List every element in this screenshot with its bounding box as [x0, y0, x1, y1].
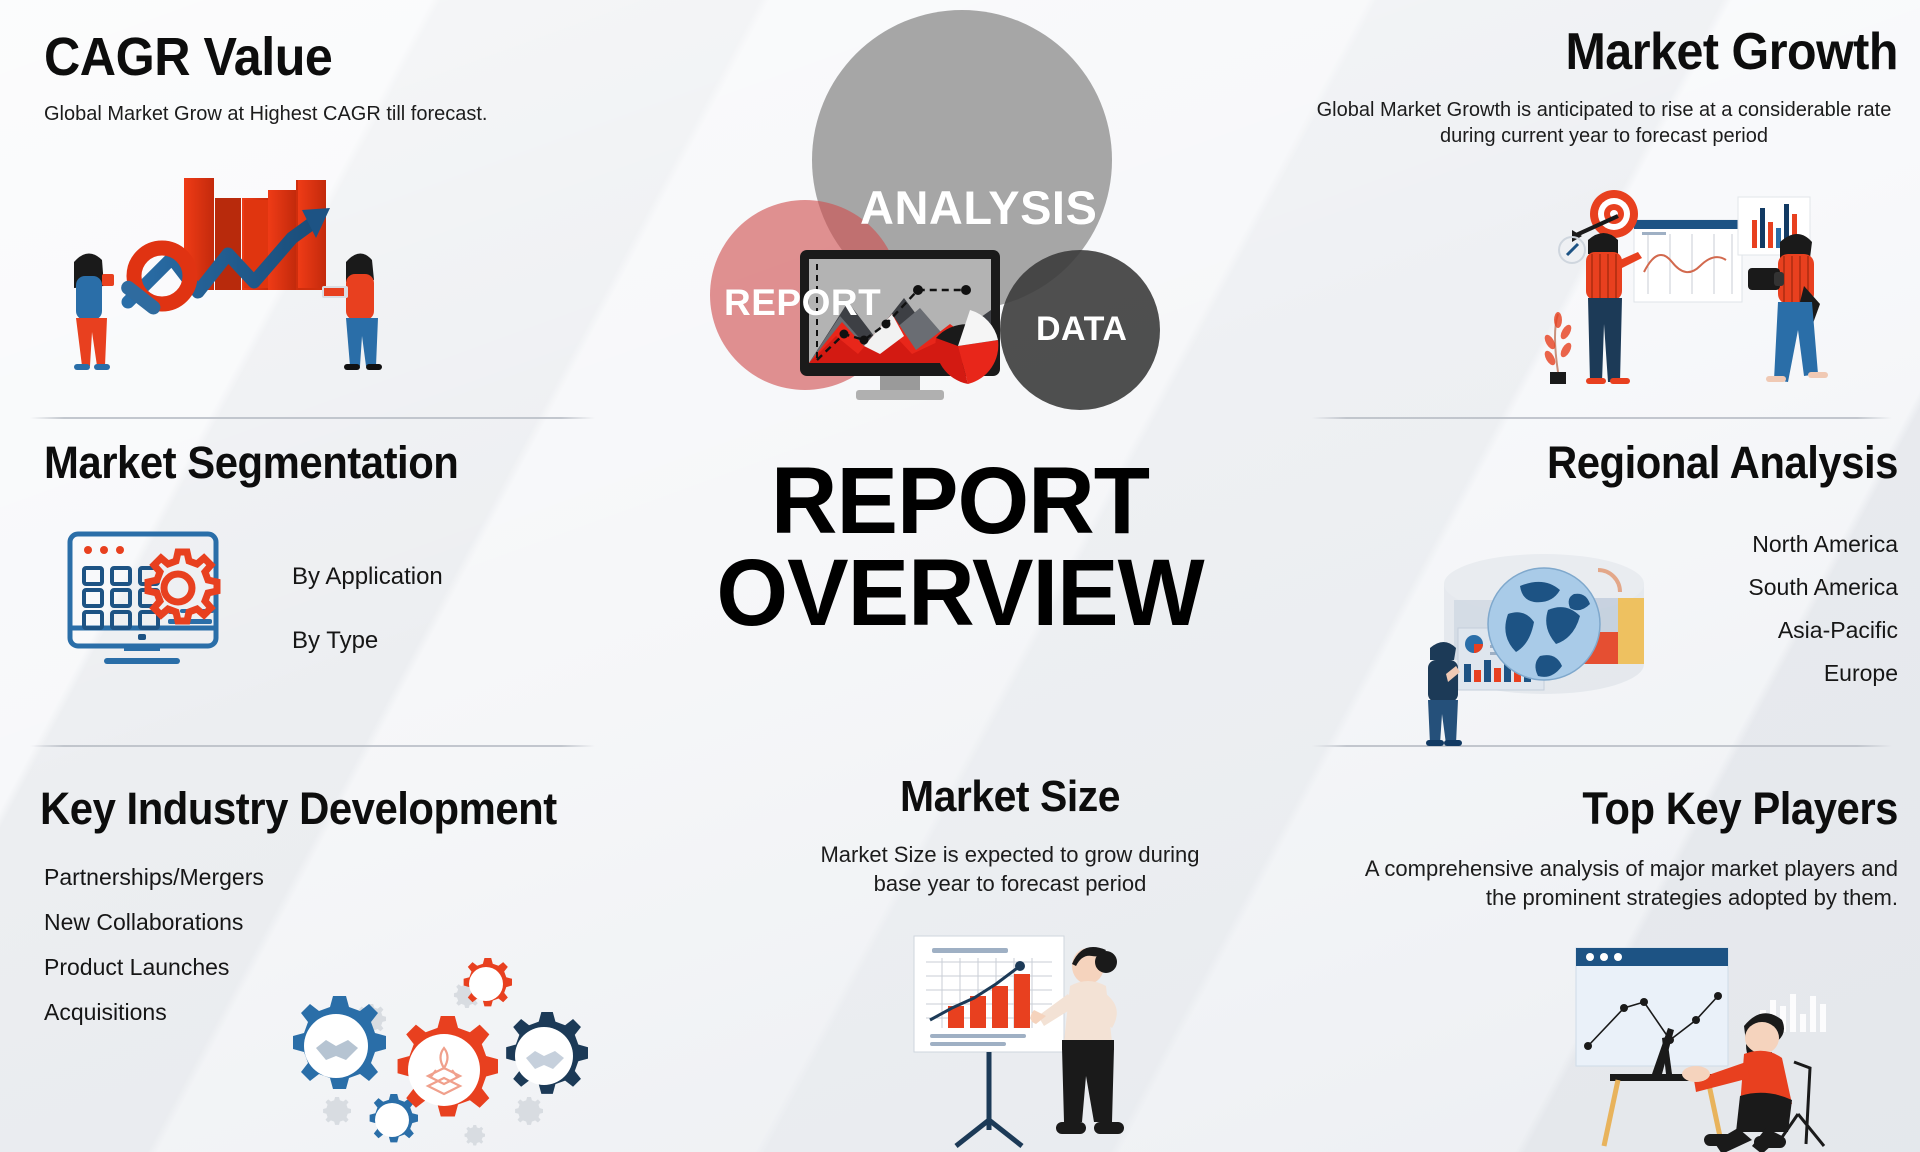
report-circle-label: REPORT — [724, 282, 881, 324]
key-industry-development-items: Partnerships/Mergers New Collaborations … — [44, 866, 264, 1024]
segmentation-item-0: By Application — [292, 565, 443, 589]
market-segmentation-items: By Application By Type — [292, 565, 443, 653]
report-overview-line1: REPORT — [669, 455, 1251, 547]
key-industry-development-illustration — [252, 918, 622, 1152]
region-item-1: South America — [1600, 576, 1898, 599]
market-growth-subtitle: Global Market Growth is anticipated to r… — [1310, 97, 1898, 150]
kid-item-2: Product Launches — [44, 956, 264, 979]
kid-item-1: New Collaborations — [44, 911, 264, 934]
market-segmentation-title: Market Segmentation — [44, 440, 565, 486]
market-size-title: Market Size — [759, 775, 1261, 820]
top-key-players-subtitle-line1: A comprehensive analysis of major market… — [1300, 854, 1898, 883]
top-key-players-illustration — [1548, 934, 1888, 1152]
cagr-value-subtitle: Global Market Grow at Highest CAGR till … — [44, 101, 604, 127]
analysis-circle-label: ANALYSIS — [860, 180, 1097, 235]
monitor-chart-icon — [800, 250, 1028, 410]
region-item-2: Asia-Pacific — [1600, 619, 1898, 642]
regional-analysis-title: Regional Analysis — [1370, 440, 1898, 486]
divider-left-bottom — [30, 745, 595, 747]
top-key-players-subtitle-line2: the prominent strategies adopted by them… — [1300, 883, 1898, 912]
data-circle-label: DATA — [1036, 310, 1127, 349]
regional-analysis-items: North America South America Asia-Pacific… — [1600, 533, 1898, 685]
market-growth-illustration — [1512, 182, 1892, 400]
market-size-illustration — [890, 924, 1160, 1152]
center-logo: ANALYSIS REPORT DATA — [700, 10, 1120, 370]
market-growth-title: Market Growth — [1351, 26, 1898, 79]
section-cagr-value: CAGR Value Global Market Grow at Highest… — [44, 30, 604, 127]
top-key-players-title: Top Key Players — [1342, 786, 1898, 832]
region-item-3: Europe — [1600, 662, 1898, 685]
report-overview-line2: OVERVIEW — [669, 547, 1251, 639]
segmentation-item-1: By Type — [292, 629, 443, 653]
region-item-0: North America — [1600, 533, 1898, 556]
market-size-subtitle-line2: base year to forecast period — [740, 869, 1280, 898]
key-industry-development-title: Key Industry Development — [40, 786, 635, 832]
market-size-subtitle-line1: Market Size is expected to grow during — [740, 840, 1280, 869]
divider-right-top — [1312, 417, 1892, 419]
section-key-industry-development: Key Industry Development — [40, 786, 680, 832]
kid-item-0: Partnerships/Mergers — [44, 866, 264, 889]
divider-left-top — [30, 417, 595, 419]
section-market-size: Market Size Market Size is expected to g… — [740, 775, 1280, 898]
section-regional-analysis: Regional Analysis — [1330, 440, 1898, 486]
section-top-key-players: Top Key Players A comprehensive analysis… — [1300, 786, 1898, 912]
cagr-value-illustration — [40, 150, 420, 390]
cagr-value-title: CAGR Value — [44, 30, 565, 85]
market-segmentation-illustration — [62, 528, 262, 688]
kid-item-3: Acquisitions — [44, 1001, 264, 1024]
section-market-segmentation: Market Segmentation — [44, 440, 604, 486]
section-market-growth: Market Growth Global Market Growth is an… — [1310, 26, 1898, 150]
page-title: REPORT OVERVIEW — [660, 455, 1260, 639]
